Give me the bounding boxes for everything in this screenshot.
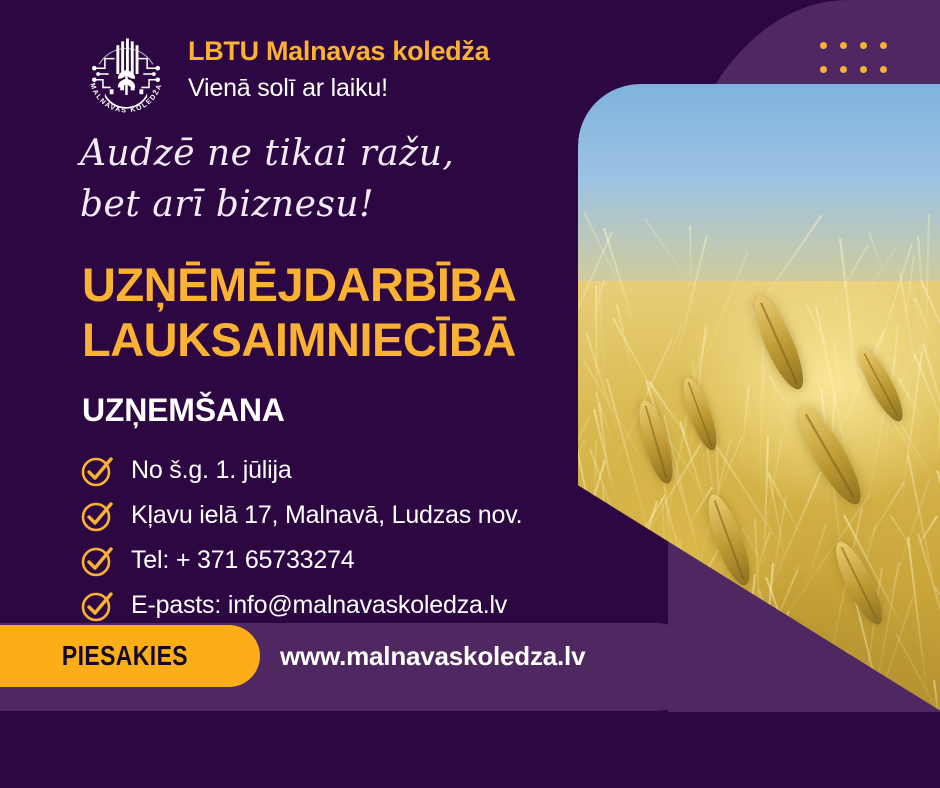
info-list: No š.g. 1. jūlijaKļavu ielā 17, Malnavā,…: [80, 448, 640, 628]
check-circle-icon: [80, 454, 114, 488]
list-item-label: Tel: + 371 65733274: [131, 546, 354, 575]
apply-button[interactable]: PIESAKIES: [0, 625, 260, 687]
header: MALNAVAS KOLEDŽA LBTU Malnavas koledža V…: [78, 26, 489, 122]
list-item-label: E-pasts: info@malnavaskoledza.lv: [131, 591, 507, 620]
headline-line-1: UZŅĒMĒJDARBĪBA: [82, 258, 516, 313]
script-line-2: bet arī biznesu!: [80, 179, 454, 230]
headline-line-2: LAUKSAIMNIECĪBĀ: [82, 313, 516, 368]
script-line-1: Audzē ne tikai ražu,: [80, 128, 454, 179]
dot-icon: [820, 42, 827, 49]
dot-icon: [880, 66, 887, 73]
script-tagline: Audzē ne tikai ražu, bet arī biznesu!: [80, 128, 454, 230]
check-circle-icon: [80, 499, 114, 533]
apply-button-label: PIESAKIES: [62, 640, 188, 672]
subheading-admissions: UZŅEMŠANA: [82, 392, 285, 429]
list-item: No š.g. 1. jūlija: [80, 448, 640, 493]
dot-grid-icon: [820, 42, 900, 90]
malnavas-koledza-logo: MALNAVAS KOLEDŽA: [78, 26, 174, 122]
dot-icon: [860, 66, 867, 73]
list-item-label: No š.g. 1. jūlija: [131, 456, 292, 485]
headline: UZŅĒMĒJDARBĪBA LAUKSAIMNIECĪBĀ: [82, 258, 516, 367]
list-item: Kļavu ielā 17, Malnavā, Ludzas nov.: [80, 493, 640, 538]
list-item-label: Kļavu ielā 17, Malnavā, Ludzas nov.: [131, 501, 522, 530]
list-item: E-pasts: info@malnavaskoledza.lv: [80, 583, 640, 628]
organization-name: LBTU Malnavas koledža: [188, 36, 489, 67]
list-item: Tel: + 371 65733274: [80, 538, 640, 583]
dot-icon: [840, 66, 847, 73]
dot-icon: [840, 42, 847, 49]
dot-icon: [880, 42, 887, 49]
dot-icon: [860, 42, 867, 49]
check-circle-icon: [80, 544, 114, 578]
organization-tagline: Vienā solī ar laiku!: [188, 74, 489, 103]
website-url[interactable]: www.malnavaskoledza.lv: [280, 641, 585, 672]
dot-icon: [820, 66, 827, 73]
check-circle-icon: [80, 589, 114, 623]
poster-root: MALNAVAS KOLEDŽA LBTU Malnavas koledža V…: [0, 0, 940, 788]
